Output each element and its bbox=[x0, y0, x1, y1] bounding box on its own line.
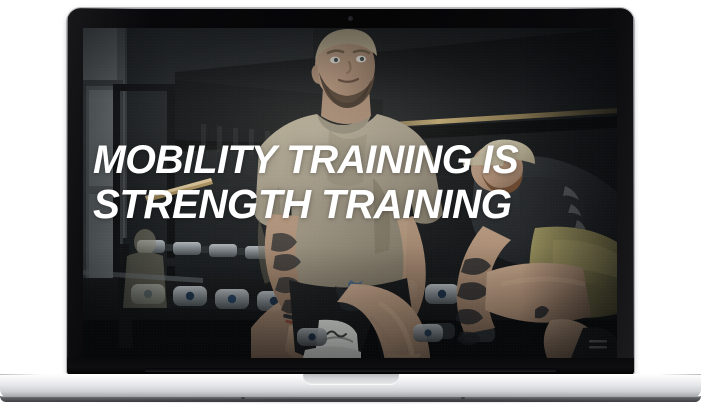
laptop-lid-chin bbox=[67, 358, 634, 375]
video-frame[interactable]: MOBILITY TRAINING IS STRENGTH TRAINING bbox=[83, 28, 617, 358]
lid-left-highlight bbox=[67, 18, 68, 358]
laptop-lid: MOBILITY TRAINING IS STRENGTH TRAINING bbox=[67, 8, 634, 375]
webcam-icon bbox=[349, 17, 352, 20]
laptop-lid-groove bbox=[145, 368, 556, 371]
laptop-drop-shadow bbox=[8, 399, 693, 404]
laptop-mockup: MOBILITY TRAINING IS STRENGTH TRAINING bbox=[0, 0, 701, 405]
lid-top-highlight bbox=[67, 8, 634, 9]
laptop-screen[interactable]: MOBILITY TRAINING IS STRENGTH TRAINING bbox=[83, 28, 617, 358]
laptop-base-notch bbox=[303, 374, 399, 385]
lid-right-highlight bbox=[633, 18, 634, 358]
laptop-base bbox=[0, 374, 701, 398]
gym-scene-illustration bbox=[83, 28, 617, 358]
